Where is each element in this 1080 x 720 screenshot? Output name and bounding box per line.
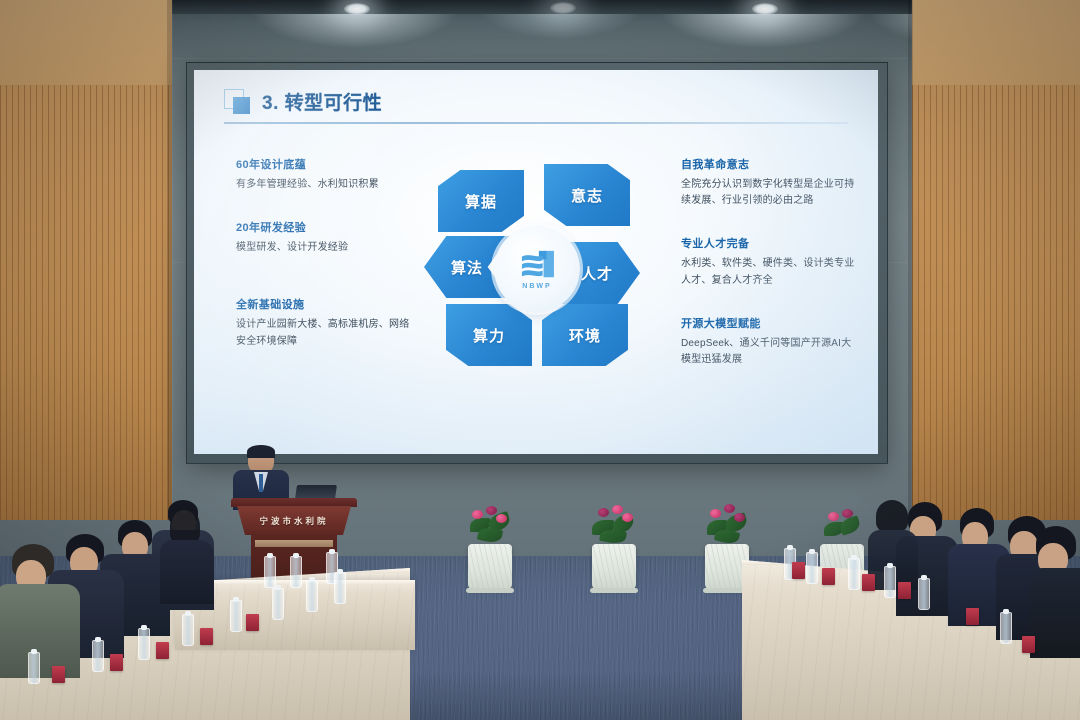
feature-body: 水利类、软件类、硬件类、设计类专业人才、复合人才齐全 xyxy=(681,256,859,288)
feature-body: 有多年管理经验、水利知识积累 xyxy=(236,177,414,193)
name-plate xyxy=(52,666,65,683)
name-plate xyxy=(110,654,123,671)
podium-trim-band xyxy=(255,540,333,547)
water-bottle xyxy=(272,588,284,620)
logo-wordmark: NBWP xyxy=(522,283,551,290)
feature-block: 20年研发经验 模型研发、设计开发经验 xyxy=(236,219,414,256)
presentation-slide: 3. 转型可行性 60年设计底蕴 有多年管理经验、水利知识积累 20年研发经验 … xyxy=(194,70,878,454)
water-bottle xyxy=(806,552,818,584)
podium-institution-name: 宁波市水利院 xyxy=(259,515,328,527)
person-torso xyxy=(160,540,214,604)
feature-title: 20年研发经验 xyxy=(236,219,414,235)
wood-panel-edge xyxy=(167,0,172,520)
petal-bottom-left: 算力 xyxy=(446,304,532,366)
name-plate xyxy=(1022,636,1035,653)
person-torso xyxy=(1030,568,1080,658)
water-bottle xyxy=(290,556,302,588)
feature-title: 全新基础设施 xyxy=(236,296,414,312)
name-plate xyxy=(792,562,805,579)
feature-body: 全院充分认识到数字化转型是企业可持续发展、行业引领的必由之路 xyxy=(681,177,859,209)
name-plate xyxy=(898,582,911,599)
name-plate xyxy=(822,568,835,585)
water-bottle xyxy=(1000,612,1012,644)
slide-title: 3. 转型可行性 xyxy=(262,88,382,115)
slide-header: 3. 转型可行性 xyxy=(224,88,382,115)
ceiling-spotlight xyxy=(550,2,576,14)
feature-body: 模型研发、设计开发经验 xyxy=(236,240,414,256)
feature-title: 开源大模型赋能 xyxy=(681,315,859,331)
audience-member xyxy=(160,508,214,598)
audience-member xyxy=(1030,526,1080,652)
feature-body: DeepSeek、通义千问等国产开源AI大模型迅猛发展 xyxy=(681,336,859,368)
feature-title: 专业人才完备 xyxy=(681,235,859,251)
water-bottle xyxy=(848,558,860,590)
petal-top-right: 意志 xyxy=(544,164,630,226)
petal-label: 算力 xyxy=(473,325,505,346)
wall-seam xyxy=(172,0,173,520)
water-bottle xyxy=(182,614,194,646)
planter-foliage xyxy=(588,504,640,548)
podium-front-panel: 宁波市水利院 xyxy=(237,506,351,535)
feature-block: 专业人才完备 水利类、软件类、硬件类、设计类专业人才、复合人才齐全 xyxy=(681,235,859,288)
name-plate xyxy=(966,608,979,625)
petal-label: 意志 xyxy=(571,185,603,206)
planter-pot xyxy=(592,544,636,590)
six-petal-hexagon-diagram: 算据 意志 算法 人才 算力 环境 xyxy=(432,164,642,379)
slide-right-column: 自我革命意志 全院充分认识到数字化转型是企业可持续发展、行业引领的必由之路 专业… xyxy=(681,156,859,389)
planter-base xyxy=(466,588,514,593)
wall-seam xyxy=(172,58,908,59)
planter-foliage xyxy=(701,504,753,548)
planter-foliage xyxy=(464,504,516,548)
feature-block: 全新基础设施 设计产业园新大楼、高标准机房、网络安全环境保障 xyxy=(236,296,414,349)
water-bottle xyxy=(264,556,276,588)
nbwp-wave-logo-icon xyxy=(518,249,556,281)
water-bottle xyxy=(306,580,318,612)
petal-label: 算据 xyxy=(465,191,497,212)
water-bottle xyxy=(92,640,104,672)
water-bottle xyxy=(334,572,346,604)
flower-planter xyxy=(468,500,512,590)
petal-top-left: 算据 xyxy=(438,170,524,232)
petal-label: 人才 xyxy=(581,263,613,284)
planter-base xyxy=(590,588,638,593)
podium-top xyxy=(231,498,357,507)
presenter-hair xyxy=(247,445,275,458)
feature-block: 自我革命意志 全院充分认识到数字化转型是企业可持续发展、行业引领的必由之路 xyxy=(681,156,859,209)
ceiling-spotlight xyxy=(752,3,778,15)
feature-body: 设计产业园新大楼、高标准机房、网络安全环境保障 xyxy=(236,317,414,349)
planter-foliage xyxy=(816,504,868,548)
name-plate xyxy=(200,628,213,645)
water-bottle xyxy=(918,578,930,610)
petal-label: 环境 xyxy=(569,325,601,346)
slide-left-column: 60年设计底蕴 有多年管理经验、水利知识积累 20年研发经验 模型研发、设计开发… xyxy=(236,156,414,371)
water-bottle xyxy=(230,600,242,632)
wood-panel-edge xyxy=(908,0,913,520)
person-hair xyxy=(170,508,200,544)
diagram-center-logo: NBWP xyxy=(494,226,580,312)
water-bottle xyxy=(884,566,896,598)
feature-block: 开源大模型赋能 DeepSeek、通义千问等国产开源AI大模型迅猛发展 xyxy=(681,315,859,368)
wood-panel-top-right xyxy=(912,0,1080,85)
feature-title: 60年设计底蕴 xyxy=(236,156,414,172)
conference-photo-scene: 3. 转型可行性 60年设计底蕴 有多年管理经验、水利知识积累 20年研发经验 … xyxy=(0,0,1080,720)
wood-panel-top-left xyxy=(0,0,172,85)
petal-bottom-right: 环境 xyxy=(542,304,628,366)
flower-planter xyxy=(592,498,636,590)
person-hair xyxy=(876,500,908,532)
name-plate xyxy=(156,642,169,659)
podium-laptop xyxy=(295,485,337,499)
water-bottle xyxy=(138,628,150,660)
slide-header-divider xyxy=(224,122,848,124)
petal-label: 算法 xyxy=(451,257,483,278)
presenter-tie xyxy=(259,474,263,492)
feature-block: 60年设计底蕴 有多年管理经验、水利知识积累 xyxy=(236,156,414,193)
name-plate xyxy=(862,574,875,591)
two-squares-icon xyxy=(224,89,252,115)
name-plate xyxy=(246,614,259,631)
person-torso xyxy=(0,584,80,678)
feature-title: 自我革命意志 xyxy=(681,156,859,172)
audience-member xyxy=(0,544,80,674)
ceiling-spotlight xyxy=(344,3,370,15)
planter-pot xyxy=(468,544,512,590)
water-bottle xyxy=(28,652,40,684)
